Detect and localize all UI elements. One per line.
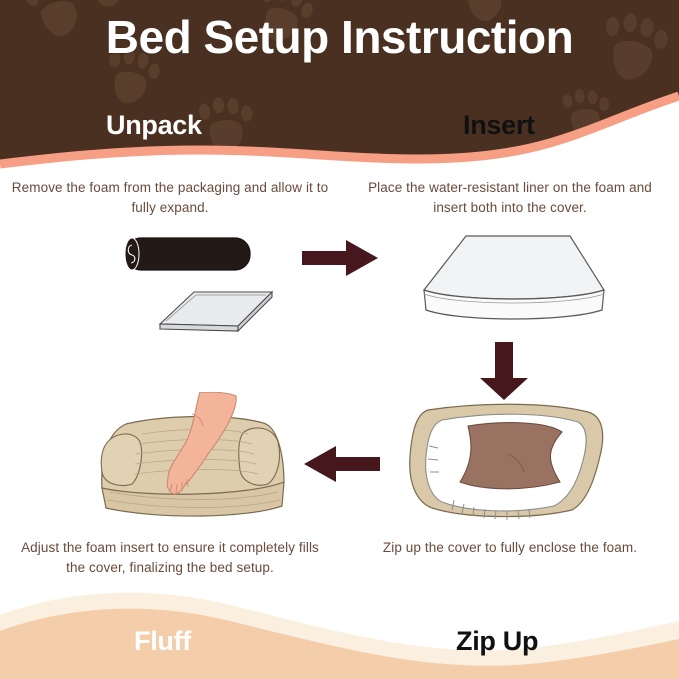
- step-text-unpack: Remove the foam from the packaging and a…: [10, 178, 330, 218]
- step-label-fluff: Fluff: [134, 626, 191, 657]
- rolled-foam-icon: [125, 238, 250, 270]
- arrow-right-icon: [300, 236, 380, 280]
- illustration-rolled-foam-and-liner: [108, 232, 288, 347]
- arrow-down-icon: [474, 340, 534, 402]
- step-label-insert: Insert: [463, 110, 535, 141]
- step-text-fluff: Adjust the foam insert to ensure it comp…: [10, 538, 330, 578]
- folded-liner-icon: [160, 292, 272, 331]
- bolster-right: [239, 428, 280, 485]
- arrow-left-icon: [302, 442, 382, 486]
- step-label-zipup: Zip Up: [456, 626, 538, 657]
- illustration-zipped-bed-cover: [398, 398, 613, 520]
- step-label-unpack: Unpack: [106, 110, 202, 141]
- page-title: Bed Setup Instruction: [0, 10, 679, 64]
- footer-wave-banner: [0, 569, 679, 679]
- bolster-left: [101, 434, 141, 486]
- bed-setup-infographic: Bed Setup Instruction Unpack Insert Remo…: [0, 0, 679, 679]
- cover-top-panel: [424, 236, 604, 299]
- step-text-zipup: Zip up the cover to fully enclose the fo…: [350, 538, 670, 558]
- step-text-insert: Place the water-resistant liner on the f…: [350, 178, 670, 218]
- illustration-hand-fluffing-bed: [88, 392, 313, 527]
- illustration-foam-slab-in-cover: [418, 228, 608, 348]
